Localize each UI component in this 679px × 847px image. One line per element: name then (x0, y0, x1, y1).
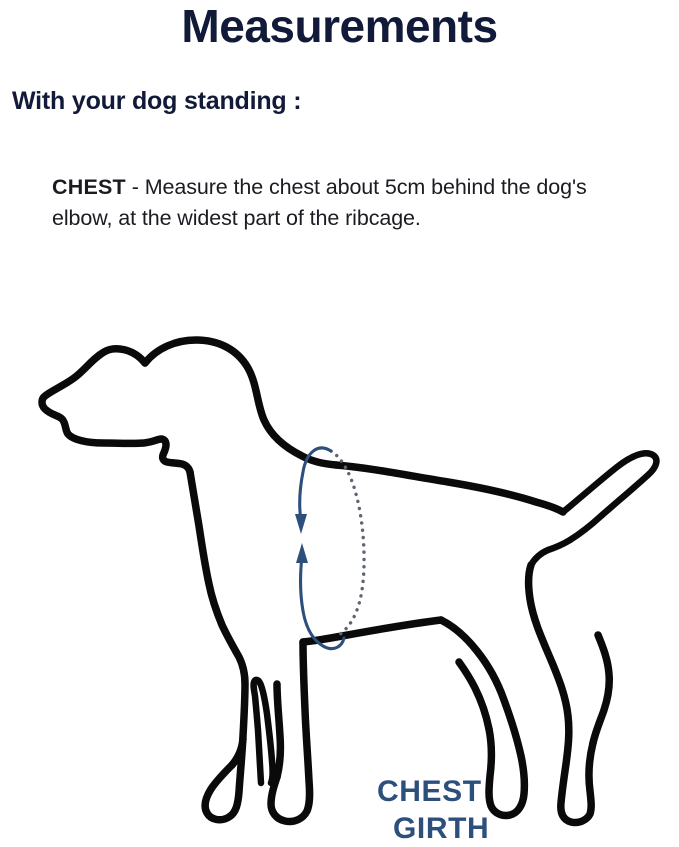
chest-girth-label-line2: GIRTH (377, 811, 567, 847)
girth-arrow-down-icon (295, 514, 307, 534)
girth-loop-back-arc (331, 451, 364, 637)
instruction-paragraph: CHEST - Measure the chest about 5cm behi… (52, 172, 652, 233)
measurement-guide-page: Measurements With your dog standing : CH… (0, 0, 679, 827)
section-subtitle: With your dog standing : (12, 86, 301, 116)
chest-girth-label: CHEST GIRTH (377, 774, 567, 847)
instruction-lead-label: CHEST (52, 175, 126, 199)
dog-outline-icon (42, 340, 656, 823)
instruction-separator: - (126, 175, 145, 199)
dog-measurement-illustration: CHEST GIRTH (0, 286, 679, 827)
chest-girth-loop-icon (295, 448, 364, 649)
page-title: Measurements (0, 2, 679, 50)
chest-girth-label-line1: CHEST (377, 775, 482, 808)
